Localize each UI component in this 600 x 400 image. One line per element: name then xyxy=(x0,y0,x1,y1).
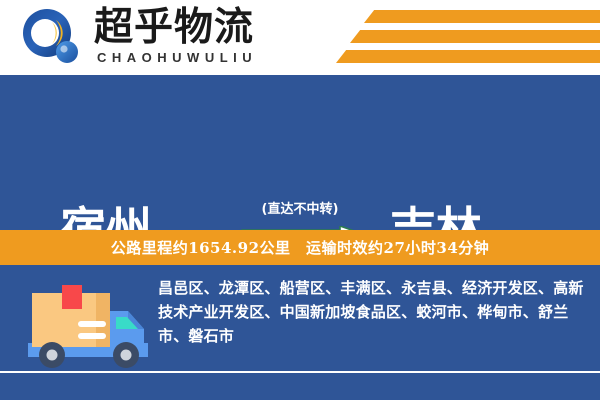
stripe-2 xyxy=(350,30,600,43)
logistics-route-banner: 超乎物流 CHAOHUWULIU 宿州 (直达不中转) 【往返运输】 吉林 公路… xyxy=(0,0,600,400)
coverage-section: 昌邑区、龙潭区、船营区、丰满区、永吉县、经济开发区、高新技术产业开发区、中国新加… xyxy=(0,265,600,400)
brand-name-cn: 超乎物流 xyxy=(94,6,254,48)
route-band: 宿州 (直达不中转) 【往返运输】 吉林 xyxy=(0,78,600,230)
route-stats-bar: 公路里程约1654.92公里 运输时效约27小时34分钟 xyxy=(0,230,600,265)
stripe-1 xyxy=(364,10,600,23)
direct-service-note: (直达不中转) xyxy=(247,198,353,217)
stripe-3 xyxy=(336,50,600,63)
speed-stripes-icon xyxy=(330,6,600,68)
route-stats-text: 公路里程约1654.92公里 运输时效约27小时34分钟 xyxy=(111,237,490,258)
brand-name-en: CHAOHUWULIU xyxy=(97,50,257,65)
banner-header: 超乎物流 CHAOHUWULIU xyxy=(0,0,600,75)
covered-districts-text: 昌邑区、龙潭区、船营区、丰满区、永吉县、经济开发区、高新技术产业开发区、中国新加… xyxy=(158,276,588,348)
circle-q-logo-icon xyxy=(22,8,82,66)
bottom-divider xyxy=(0,371,600,373)
delivery-truck-icon xyxy=(24,277,154,373)
